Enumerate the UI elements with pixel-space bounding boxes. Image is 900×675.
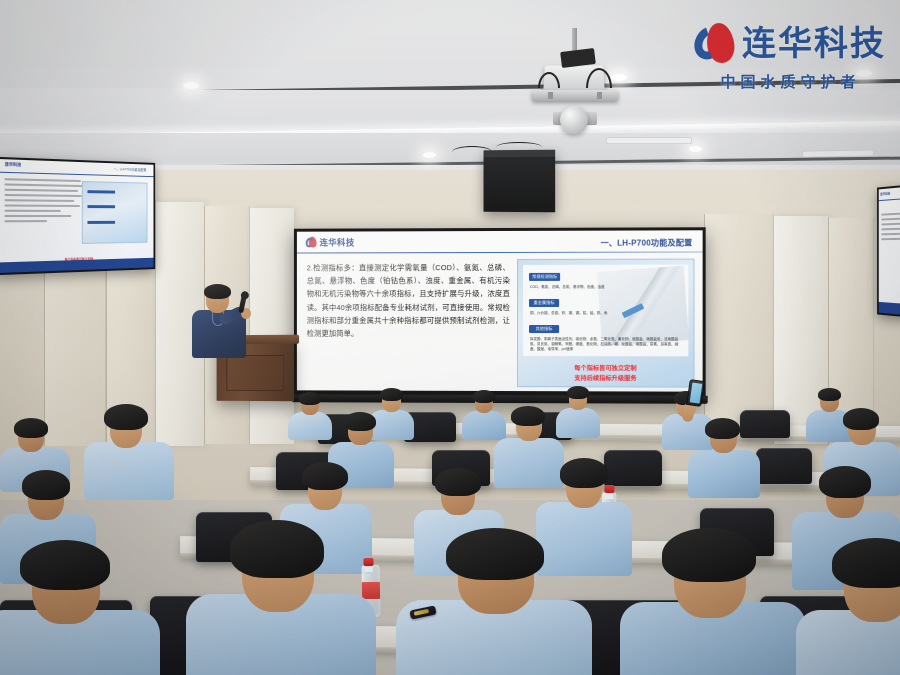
ceiling-downlight <box>423 152 436 158</box>
brand-name: 连华科技 <box>742 27 886 61</box>
audience-member-foreground <box>186 520 376 675</box>
presenter <box>186 286 256 356</box>
side-monitor-right-slide: 连华科技 <box>879 187 900 316</box>
slide-logo-label: 连华科技 <box>880 191 890 196</box>
slide-footer-bar <box>879 302 900 316</box>
slide-logo-label: 连华科技 <box>5 162 22 169</box>
category-tag: 其他指标 <box>529 325 559 333</box>
side-monitor-left-slide: 连华科技 一、LH-P700功能及配置 每个指标皆可独立定制 <box>0 159 153 273</box>
projector-bracket <box>532 90 618 101</box>
brand-tagline: 中国水质守护者 <box>695 71 886 92</box>
slide-logo-label: 连华科技 <box>320 236 355 248</box>
slide-divider <box>0 171 153 177</box>
main-projection-screen[interactable]: 连华科技 一、LH-P700功能及配置 2.检测指标多：直接测定化学需氧量（CO… <box>294 227 706 396</box>
side-monitor-left[interactable]: 连华科技 一、LH-P700功能及配置 每个指标皆可独立定制 <box>0 157 155 276</box>
audience-member <box>688 418 760 494</box>
audience-member-foreground <box>0 548 160 675</box>
speaker-cable <box>452 146 492 158</box>
category-tag: 重金属指标 <box>529 299 559 307</box>
ceiling-downlight <box>689 146 702 152</box>
presenter-hair <box>204 284 231 299</box>
category-tag: 常规检测指标 <box>529 273 560 281</box>
speaker-cable <box>496 142 542 152</box>
ceiling-speaker <box>484 150 556 213</box>
water-drop-swirl-icon <box>306 237 317 249</box>
slide-highlight-text: 每个指标皆可独立定制 支持后续指标升级服务 <box>518 364 693 383</box>
indicator-card: 常规检测指标 COD、氨氮、总磷、总氮、悬浮物、色度、浊度 重金属指标 铜、六价… <box>523 265 688 357</box>
ceiling-projector-rig <box>520 28 630 140</box>
audience-member-foreground <box>796 546 900 675</box>
slide-inset-image <box>82 182 148 244</box>
category-items: COD、氨氮、总磷、总氮、悬浮物、色度、浊度 <box>530 285 682 290</box>
smartphone-icon <box>686 379 704 407</box>
lectern-front-panel <box>226 355 284 391</box>
slide-section-title: 一、LH-P700功能及配置 <box>601 237 693 248</box>
slide-brand-logo: 连华科技 <box>306 236 355 248</box>
slide-divider <box>297 251 703 253</box>
category-items: 挥发酚、阴离子表面活性剂、硫化物、余氯、二氧化氯、氟化物、硫酸盐、硝酸盐氮、亚硝… <box>530 337 682 353</box>
ceiling-downlight <box>183 82 199 89</box>
audience-member <box>84 404 174 496</box>
slide-inset-panel: 常规检测指标 COD、氨氮、总磷、总氮、悬浮物、色度、浊度 重金属指标 铜、六价… <box>517 259 694 388</box>
slide-body-text: 2.检测指标多：直接测定化学需氧量（COD）、氨氮、总磷、总氮、悬浮物、色度（铂… <box>307 261 510 340</box>
slide-section-label: 一、LH-P700功能及配置 <box>114 166 147 172</box>
presentation-slide: 连华科技 一、LH-P700功能及配置 2.检测指标多：直接测定化学需氧量（CO… <box>297 230 703 391</box>
audience-member <box>288 392 332 438</box>
audience-member-foreground <box>396 540 592 675</box>
conference-room-photo: 连华科技 一、LH-P700功能及配置 每个指标皆可独立定制 <box>0 0 900 675</box>
ceiling-air-slot <box>802 149 874 157</box>
analyzer-device-photo <box>597 266 689 346</box>
brand-watermark: 连华科技 中国水质守护者 <box>695 22 886 92</box>
water-drop-swirl-icon <box>695 22 735 66</box>
slide-text-block <box>5 179 84 226</box>
audience-member-foreground <box>620 532 806 675</box>
side-monitor-right[interactable]: 连华科技 <box>877 184 900 317</box>
highlight-line-2: 支持后续指标升级服务 <box>518 374 693 384</box>
highlight-line-1: 每个指标皆可独立定制 <box>518 364 693 374</box>
ceiling-dome-camera-icon <box>560 106 588 134</box>
category-items: 铜、六价铬、总铬、锌、镍、镉、铅、锰、铁、汞 <box>530 311 682 316</box>
